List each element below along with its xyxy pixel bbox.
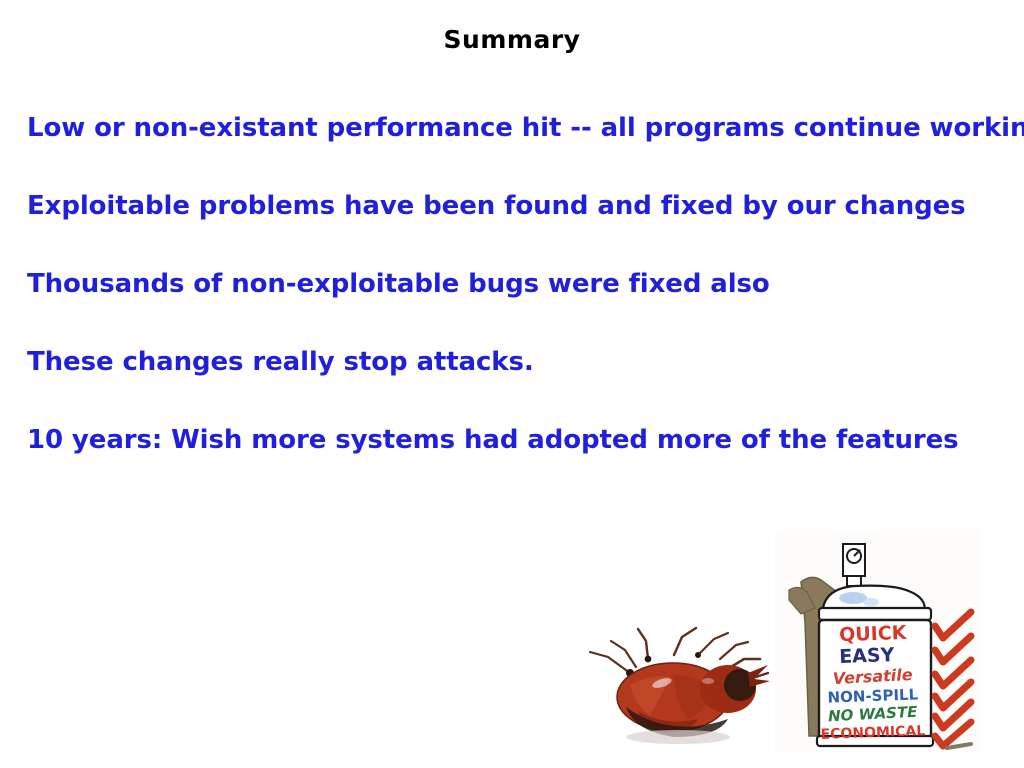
bullet-item: Exploitable problems have been found and… [27, 192, 997, 270]
bullet-list: Low or non-existant performance hit -- a… [27, 114, 997, 504]
dead-beetle-image [578, 615, 803, 750]
page-title: Summary [0, 26, 1024, 54]
bullet-item: Low or non-existant performance hit -- a… [27, 114, 997, 192]
bullet-item: These changes really stop attacks. [27, 348, 997, 426]
slide-artwork: QUICK EASY Versatile NON-SPILL NO WASTE … [560, 520, 990, 760]
bullet-item: Thousands of non-exploitable bugs were f… [27, 270, 997, 348]
can-label-quick: QUICK [839, 622, 908, 646]
bullet-item: 10 years: Wish more systems had adopted … [27, 426, 997, 504]
spray-can-image: QUICK EASY Versatile NON-SPILL NO WASTE … [775, 530, 980, 752]
can-label-easy: EASY [839, 644, 895, 668]
